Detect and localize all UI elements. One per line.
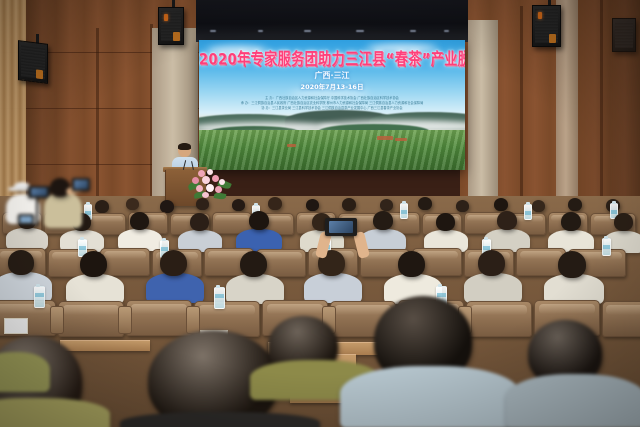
attendee-head: [494, 198, 508, 211]
attendee-head: [20, 198, 33, 210]
attendee-head: [373, 211, 393, 230]
water-bottle[interactable]: [524, 204, 532, 220]
loudspeaker: [18, 40, 48, 84]
attendee-head: [497, 211, 517, 230]
attendee-head: [72, 213, 91, 231]
screen-body-line-3: 协 办：三江县茶业局 三江县科学技术协会 三江侗族自治县茶产业发展中心 广西三江…: [236, 106, 428, 111]
attendee-head: [249, 211, 269, 230]
water-bottle[interactable]: [436, 286, 447, 308]
screen-date: 2020年7月13-16日: [199, 81, 465, 91]
attendee-body: [6, 228, 48, 250]
led-display-screen: 2020年专家服务团助力三江县“春茶”产业脱贫攻坚活动 广西·三江 2020年7…: [199, 40, 465, 170]
attendee-head: [456, 200, 469, 212]
auditorium-photo: 2020年专家服务团助力三江县“春茶”产业脱贫攻坚活动 广西·三江 2020年7…: [0, 0, 640, 427]
auditorium-seat[interactable]: [534, 300, 600, 336]
attendee-head: [558, 251, 586, 278]
attendee-head: [18, 212, 36, 229]
auditorium-seat[interactable]: [602, 301, 640, 337]
attendee-head: [80, 251, 107, 277]
attendee-head: [50, 196, 63, 208]
auditorium-seat[interactable]: [58, 301, 124, 337]
attendee-head: [130, 212, 149, 230]
seat-armrest: [118, 306, 132, 334]
attendee-head: [418, 197, 432, 210]
attendee-head: [160, 250, 187, 276]
auditorium-seat[interactable]: [126, 300, 192, 336]
tissue-box[interactable]: [4, 318, 28, 334]
handout-paper[interactable]: [426, 332, 456, 346]
loudspeaker: [612, 18, 636, 52]
attendee-head: [478, 250, 505, 276]
attendee-head: [268, 197, 282, 210]
screen-valance: [196, 0, 468, 42]
flower-arrangement: [186, 168, 232, 200]
attendee-head: [561, 212, 581, 231]
attendee-head: [8, 250, 34, 275]
desk-panel: [290, 354, 356, 403]
screen-body-line-1: 主 办：广西壮族自治区人力资源和社会保障厅 中国科学技术协会 广西壮族自治区科学…: [236, 96, 428, 101]
attendee-head: [568, 198, 582, 211]
seat-armrest: [458, 306, 472, 334]
seat-armrest: [50, 306, 64, 334]
water-bottle[interactable]: [400, 203, 408, 219]
attendee-body: [66, 274, 124, 304]
attendee-head: [532, 200, 545, 212]
desk-surface: [60, 340, 150, 351]
attendee-head: [240, 251, 267, 277]
attendee-head: [232, 199, 245, 211]
loudspeaker: [158, 7, 184, 45]
auditorium-seat[interactable]: [398, 300, 464, 336]
screen-subtitle: 广西·三江: [199, 70, 465, 81]
seat-armrest: [322, 306, 336, 334]
auditorium-seat[interactable]: [262, 300, 328, 336]
loudspeaker: [532, 5, 561, 47]
screen-body-line-2: 承 办：三江侗族自治县人民政府 广西壮族自治区农业科学院 柳州市人力资源和社会保…: [236, 101, 428, 106]
attendee-head: [306, 199, 319, 211]
auditorium-seat[interactable]: [466, 301, 532, 337]
attendee-body: [146, 273, 204, 303]
attendee-head: [614, 213, 633, 231]
attendee-body: [464, 273, 522, 303]
attendee-head: [398, 251, 425, 277]
attendee-head: [342, 198, 356, 211]
seat-armrest: [186, 306, 200, 334]
attendee-head: [196, 198, 209, 210]
attendee-head: [126, 198, 139, 210]
attendee-head: [436, 213, 455, 231]
water-bottle[interactable]: [214, 287, 225, 309]
water-bottle[interactable]: [602, 238, 611, 256]
compact-camera[interactable]: [325, 218, 357, 236]
auditorium-seat[interactable]: [330, 301, 396, 337]
attendee-head: [95, 200, 109, 213]
attendee-body: [304, 273, 362, 303]
attendee-head: [190, 213, 209, 231]
screen-title: 2020年专家服务团助力三江县“春茶”产业脱贫攻坚活动: [199, 46, 465, 70]
handout-paper[interactable]: [200, 330, 228, 344]
attendee-head: [380, 199, 393, 211]
auditorium-seat[interactable]: [100, 248, 150, 276]
water-bottle[interactable]: [34, 286, 45, 308]
